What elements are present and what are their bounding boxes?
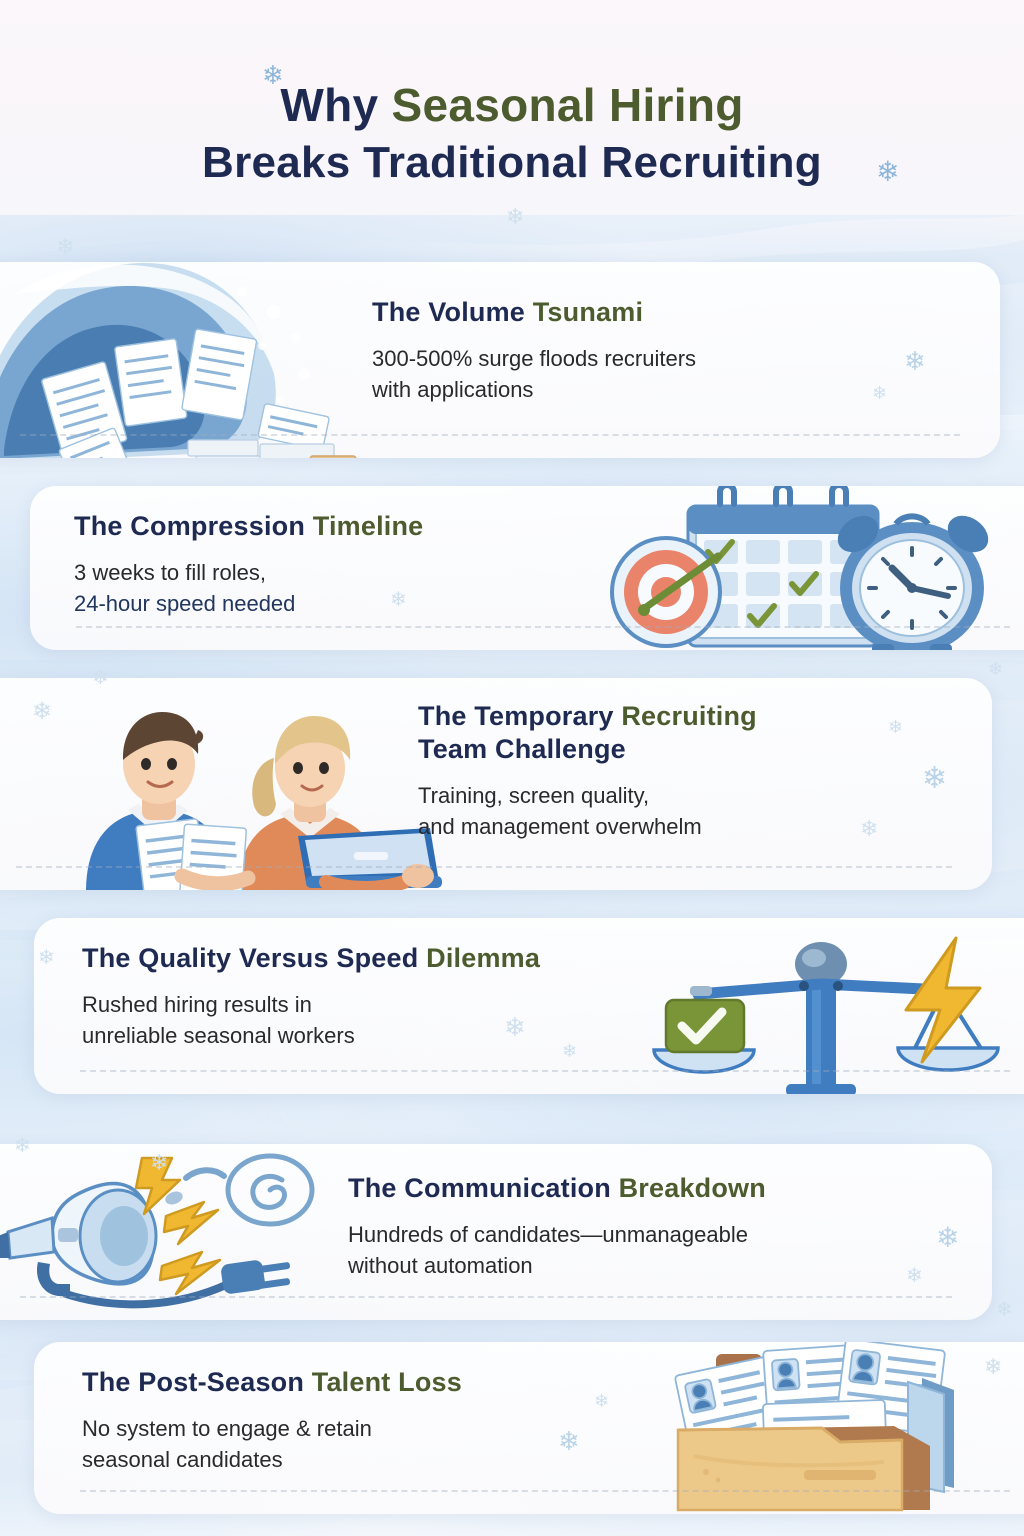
card-divider xyxy=(76,626,1010,628)
card-body-line-2: unreliable seasonal workers xyxy=(82,1023,355,1048)
card-body: 3 weeks to fill roles, 24-hour speed nee… xyxy=(74,557,634,619)
file-box-with-resume-cards-illustration xyxy=(654,1342,1014,1514)
card-text: The Post-Season Talent Loss No system to… xyxy=(82,1366,642,1475)
snowflake-icon: ❄ xyxy=(38,948,55,968)
card-title: The Compression Timeline xyxy=(74,510,634,543)
card-temporary-recruiting-team[interactable]: The Temporary Recruiting Team Challenge … xyxy=(0,678,992,890)
snowflake-icon: ❄ xyxy=(150,1152,168,1174)
card-body: Rushed hiring results in unreliable seas… xyxy=(82,989,702,1051)
card-title-accent: Timeline xyxy=(313,511,424,541)
card-body-line-1: 3 weeks to fill roles, xyxy=(74,560,266,585)
card-post-season-talent-loss[interactable]: The Post-Season Talent Loss No system to… xyxy=(34,1342,1024,1514)
card-body: Hundreds of candidates—unmanageable with… xyxy=(348,1219,948,1281)
card-title-plain: The Temporary xyxy=(418,701,621,731)
person-female xyxy=(238,716,382,890)
card-divider xyxy=(80,1490,1010,1492)
two-recruiters-papers-laptop-illustration xyxy=(62,686,442,890)
snowflake-icon: ❄ xyxy=(506,206,524,228)
card-title-accent: Breakdown xyxy=(619,1173,766,1203)
card-text: The Quality Versus Speed Dilemma Rushed … xyxy=(82,942,702,1051)
card-title: The Temporary Recruiting Team Challenge xyxy=(418,700,958,766)
snowflake-icon: ❄ xyxy=(56,236,74,258)
card-body: Training, screen quality, and management… xyxy=(418,780,958,842)
card-title: The Quality Versus Speed Dilemma xyxy=(82,942,702,975)
card-divider xyxy=(20,434,960,436)
confusion-swirl-icon xyxy=(228,1156,312,1224)
title-line-1: Why Seasonal Hiring xyxy=(0,78,1024,132)
card-title-plain: The Quality Versus Speed xyxy=(82,943,426,973)
card-text: The Volume Tsunami 300-500% surge floods… xyxy=(372,296,932,405)
card-divider xyxy=(20,1296,952,1298)
card-body-line-2: 24-hour speed needed xyxy=(74,591,295,616)
person-male xyxy=(86,712,230,890)
snowflake-icon: ❄ xyxy=(984,1356,1002,1378)
snowflake-icon: ❄ xyxy=(996,1300,1013,1320)
card-body-line-2: seasonal candidates xyxy=(82,1447,283,1472)
card-text: The Communication Breakdown Hundreds of … xyxy=(348,1172,948,1281)
card-quality-versus-speed[interactable]: The Quality Versus Speed Dilemma Rushed … xyxy=(34,918,1024,1094)
unplugged-megaphone-with-bolts-illustration xyxy=(0,1144,356,1320)
card-title-accent: Tsunami xyxy=(533,297,643,327)
title-plain: Why xyxy=(280,79,391,131)
card-communication-breakdown[interactable]: The Communication Breakdown Hundreds of … xyxy=(0,1144,992,1320)
card-body-line-1: No system to engage & retain xyxy=(82,1416,372,1441)
card-title-accent: Recruiting xyxy=(621,701,757,731)
card-title-accent: Dilemma xyxy=(426,943,540,973)
card-body-line-1: Training, screen quality, xyxy=(418,783,649,808)
card-divider xyxy=(16,866,952,868)
card-text: The Compression Timeline 3 weeks to fill… xyxy=(74,510,634,619)
card-title-accent: Talent Loss xyxy=(312,1367,462,1397)
card-body: 300-500% surge floods recruiters with ap… xyxy=(372,343,932,405)
card-body-line-2: with applications xyxy=(372,377,533,402)
page-title: Why Seasonal Hiring Breaks Traditional R… xyxy=(0,78,1024,190)
snowflake-icon: ❄ xyxy=(988,660,1003,678)
card-text: The Temporary Recruiting Team Challenge … xyxy=(418,700,958,842)
card-title-plain: The Post-Season xyxy=(82,1367,312,1397)
title-accent: Seasonal Hiring xyxy=(391,79,743,131)
card-body-line-1: 300-500% surge floods recruiters xyxy=(372,346,696,371)
tsunami-wave-with-documents-illustration xyxy=(0,262,394,458)
card-title-plain: The Compression xyxy=(74,511,313,541)
title-line-2: Breaks Traditional Recruiting xyxy=(0,136,1024,190)
card-title: The Communication Breakdown xyxy=(348,1172,948,1205)
card-title-line-2: Team Challenge xyxy=(418,734,626,764)
card-title: The Volume Tsunami xyxy=(372,296,932,329)
card-body-line-1: Rushed hiring results in xyxy=(82,992,312,1017)
card-title-plain: The Communication xyxy=(348,1173,619,1203)
card-volume-tsunami[interactable]: The Volume Tsunami 300-500% surge floods… xyxy=(0,262,1000,458)
header: Why Seasonal Hiring Breaks Traditional R… xyxy=(0,0,1024,215)
card-compression-timeline[interactable]: The Compression Timeline 3 weeks to fill… xyxy=(30,486,1024,650)
plug-icon xyxy=(220,1259,290,1295)
alarm-clock-icon xyxy=(831,508,995,650)
card-body-line-2: without automation xyxy=(348,1253,533,1278)
card-title-plain: The Volume xyxy=(372,297,533,327)
papers-stack xyxy=(136,819,247,890)
infographic-page: Why Seasonal Hiring Breaks Traditional R… xyxy=(0,0,1024,1536)
card-title: The Post-Season Talent Loss xyxy=(82,1366,642,1399)
card-body-line-1: Hundreds of candidates—unmanageable xyxy=(348,1222,748,1247)
card-body-line-2: and management overwhelm xyxy=(418,814,702,839)
card-body: No system to engage & retain seasonal ca… xyxy=(82,1413,642,1475)
card-divider xyxy=(80,1070,1010,1072)
